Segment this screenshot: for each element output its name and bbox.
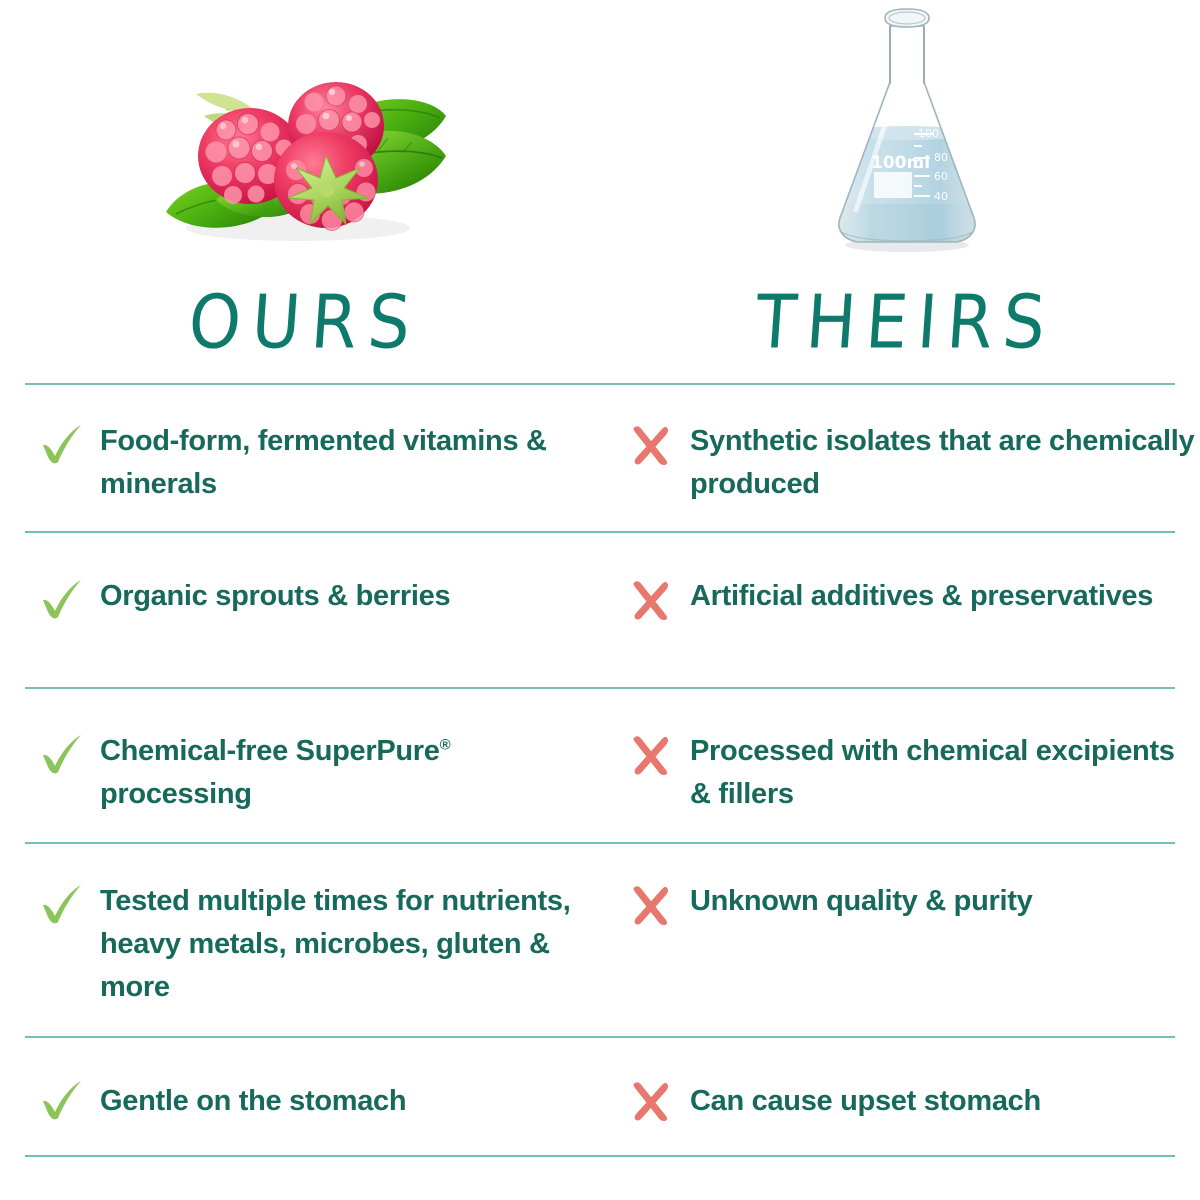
row-2-theirs-cell: Artificial additives & preservatives xyxy=(600,573,1200,624)
row-2-ours-text: Organic sprouts & berries xyxy=(100,573,450,618)
cross-icon xyxy=(626,1075,676,1125)
row-3-ours-suffix: processing xyxy=(100,778,252,810)
row-4-theirs-cell: Unknown quality & purity xyxy=(600,878,1200,1009)
check-icon xyxy=(36,729,86,779)
check-icon xyxy=(36,879,86,929)
row-1-theirs-cell: Synthetic isolates that are chemically p… xyxy=(600,418,1200,506)
row-5-theirs-cell: Can cause upset stomach xyxy=(600,1075,1200,1125)
row-2-ours-cell: Organic sprouts & berries xyxy=(0,573,600,624)
row-5-theirs-text: Can cause upset stomach xyxy=(690,1078,1041,1123)
table-row: Tested multiple times for nutrients, hea… xyxy=(0,878,1200,1009)
row-3-ours-main: Chemical-free SuperPure xyxy=(100,735,440,767)
cross-icon xyxy=(626,574,676,624)
row-3-ours-cell: Chemical-free SuperPure® processing xyxy=(0,728,600,816)
check-icon xyxy=(36,1075,86,1125)
row-1-ours-cell: Food-form, fermented vitamins & minerals xyxy=(0,418,600,506)
table-row: Gentle on the stomach Can cause upset st… xyxy=(0,1075,1200,1125)
cross-icon xyxy=(626,879,676,929)
row-3-theirs-text: Processed with chemical excipients & fil… xyxy=(690,728,1200,816)
row-2-theirs-text: Artificial additives & preservatives xyxy=(690,573,1153,618)
table-row: Organic sprouts & berries Artificial add… xyxy=(0,573,1200,624)
table-row: Chemical-free SuperPure® processing Proc… xyxy=(0,728,1200,816)
row-1-theirs-text: Synthetic isolates that are chemically p… xyxy=(690,418,1200,506)
check-icon xyxy=(36,574,86,624)
row-4-ours-cell: Tested multiple times for nutrients, hea… xyxy=(0,878,600,1009)
comparison-rows: Food-form, fermented vitamins & minerals… xyxy=(0,0,1200,1200)
row-5-ours-cell: Gentle on the stomach xyxy=(0,1075,600,1125)
comparison-infographic: 100 80 60 40 100ml OURS THEIRS xyxy=(0,0,1200,1200)
registered-trademark-symbol: ® xyxy=(440,736,451,753)
row-5-ours-text: Gentle on the stomach xyxy=(100,1078,406,1123)
row-3-ours-text: Chemical-free SuperPure® processing xyxy=(100,728,600,816)
row-4-theirs-text: Unknown quality & purity xyxy=(690,878,1032,923)
row-3-theirs-cell: Processed with chemical excipients & fil… xyxy=(600,728,1200,816)
row-1-ours-text: Food-form, fermented vitamins & minerals xyxy=(100,418,600,506)
cross-icon xyxy=(626,729,676,779)
table-row: Food-form, fermented vitamins & minerals… xyxy=(0,418,1200,506)
check-icon xyxy=(36,419,86,469)
row-4-ours-text: Tested multiple times for nutrients, hea… xyxy=(100,878,600,1009)
cross-icon xyxy=(626,419,676,469)
